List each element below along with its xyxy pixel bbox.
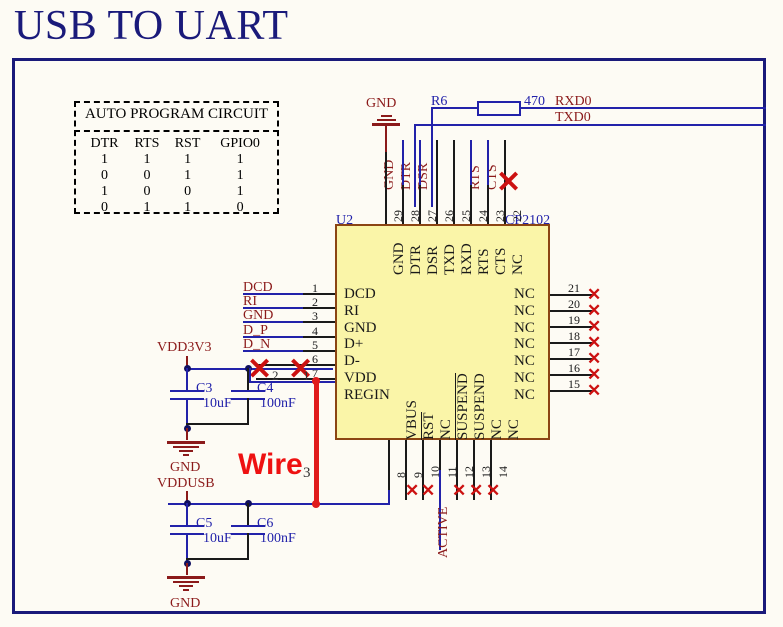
- chip-pin-label-gnd: GND: [391, 243, 408, 276]
- wire-gnd-top-stem: [385, 125, 387, 152]
- table-header-row: DTR RTS RST GPIO0: [82, 136, 272, 152]
- chip-pin-label-nc-17: NC: [514, 353, 535, 370]
- no-connect-x-pin14: ✕: [486, 482, 500, 499]
- wire-pin25-up: [431, 107, 433, 207]
- wire-cts: [487, 140, 489, 185]
- wire-annotation-label: Wire: [238, 450, 303, 480]
- chip-pin-label-dplus: D+: [344, 336, 363, 353]
- column-header-rst: RST: [167, 136, 208, 152]
- wire-r6-left: [431, 107, 479, 109]
- auto-program-divider: [74, 130, 279, 132]
- pin-lead-29: [385, 152, 387, 224]
- pin-number-23: 23: [493, 210, 508, 222]
- chip-pin-label-nc-13: NC: [489, 419, 506, 440]
- wire-gnd-left: [243, 321, 303, 323]
- table-row: 1 0 0 1: [82, 184, 272, 200]
- cell: 1: [167, 152, 208, 168]
- pin-number-27: 27: [425, 210, 440, 222]
- pin-number-24: 24: [476, 210, 491, 222]
- wire-pin26-up: [414, 124, 416, 207]
- pin-number-29: 29: [391, 210, 406, 222]
- wire-c5-c6-bottom-tie: [186, 558, 249, 560]
- cell: 0: [82, 168, 127, 184]
- chip-pin-label-suspend: SUSPEND: [472, 373, 489, 440]
- chip-pin-label-ri: RI: [344, 303, 359, 320]
- chip-designator: U2: [336, 213, 353, 229]
- wire-vbus-down: [388, 490, 390, 504]
- pin-number-18: 18: [568, 329, 580, 344]
- cell: 0: [208, 200, 272, 216]
- component-ref-c6: C6: [257, 516, 273, 532]
- junction-red-top: [312, 377, 320, 385]
- pin-number-8: 8: [394, 472, 409, 478]
- no-connect-x-pin15: ✕: [587, 382, 601, 399]
- chip-pin-label-nc-21: NC: [514, 286, 535, 303]
- chip-pin-label-dminus: D-: [344, 353, 360, 370]
- pin-number-20: 20: [568, 297, 580, 312]
- pin-number-25: 25: [459, 210, 474, 222]
- no-connect-x-pin9: ✕: [405, 482, 419, 499]
- chip-pin-label-rxd: RXD: [459, 243, 476, 275]
- cell: 1: [208, 168, 272, 184]
- pin-number-17: 17: [568, 345, 580, 360]
- component-ref-c3: C3: [196, 381, 212, 397]
- cell: 0: [127, 168, 167, 184]
- chip-pin-label-rst: RST: [421, 412, 438, 440]
- pin-number-28: 28: [408, 210, 423, 222]
- chip-pin-label-vdd: VDD: [344, 370, 377, 387]
- wire-annotation-index: 3: [303, 465, 311, 482]
- chip-pin-label-nc-16: NC: [514, 370, 535, 387]
- pin-number-9: 9: [411, 472, 426, 478]
- auto-program-title: AUTO PROGRAM CIRCUIT: [74, 106, 279, 123]
- column-header-gpio0: GPIO0: [208, 136, 272, 152]
- chip-pin-label-nc-19: NC: [514, 320, 535, 337]
- wire-regin-drop: [249, 368, 251, 382]
- chip-pin-label-nc-10: NC: [438, 419, 455, 440]
- cell: 1: [208, 184, 272, 200]
- wire-dcd: [243, 293, 303, 295]
- chip-pin-label-nc-18: NC: [514, 336, 535, 353]
- chip-pin-label-txd: TXD: [442, 244, 459, 275]
- pin-number-21: 21: [568, 281, 580, 296]
- column-header-dtr: DTR: [82, 136, 127, 152]
- wire-c6-top: [247, 503, 249, 525]
- pin-number-1: 1: [312, 281, 318, 296]
- auto-program-truth-table: DTR RTS RST GPIO0 1 1 1 1 0 0 1 1 1 0 0 …: [82, 136, 272, 216]
- net-label-gnd-bottom: GND: [170, 596, 200, 612]
- chip-pin-label-nc-22: NC: [510, 254, 527, 275]
- net-label-vdd3v3: VDD3V3: [157, 340, 211, 356]
- wire-dsr: [419, 140, 421, 185]
- no-connect-x-pin22: ✕: [496, 168, 521, 198]
- chip-pin-label-nc-14: NC: [506, 419, 523, 440]
- pin-number-22: 22: [510, 210, 525, 222]
- pin-number-16: 16: [568, 361, 580, 376]
- chip-pin-label-dtr: DTR: [408, 245, 425, 275]
- chip-pin-label-rts: RTS: [476, 248, 493, 275]
- cell: 1: [127, 152, 167, 168]
- wire-txd0-bus: [414, 124, 766, 126]
- pin-number-15: 15: [568, 377, 580, 392]
- component-ref-c5: C5: [196, 516, 212, 532]
- pin-number-13: 13: [479, 466, 494, 478]
- page-title: USB TO UART: [14, 0, 288, 52]
- net-label-vddusb: VDDUSB: [157, 476, 215, 492]
- cell: 1: [127, 200, 167, 216]
- chip-pin-label-dcd: DCD: [344, 286, 376, 303]
- component-value-c3: 10uF: [203, 396, 232, 412]
- pin-number-12: 12: [462, 466, 477, 478]
- pin-number-19: 19: [568, 313, 580, 328]
- no-connect-x-pin12: ✕: [452, 482, 466, 499]
- table-row: 0 1 1 0: [82, 200, 272, 216]
- chip-pin-label-nc-20: NC: [514, 303, 535, 320]
- cell: 1: [82, 184, 127, 200]
- component-value-c5: 10uF: [203, 531, 232, 547]
- wire-c3-top: [186, 368, 188, 390]
- cell: 0: [167, 184, 208, 200]
- cell: 1: [208, 152, 272, 168]
- pin-number-4: 4: [312, 324, 318, 339]
- chip-pin-label-gnd: GND: [344, 320, 377, 337]
- component-value-c6: 100nF: [260, 531, 296, 547]
- schematic-canvas: USB TO UART AUTO PROGRAM CIRCUIT DTR RTS…: [0, 0, 783, 627]
- cell: 0: [82, 200, 127, 216]
- pin-number-5: 5: [312, 338, 318, 353]
- chip-pin-label-dsr: DSR: [425, 246, 442, 275]
- pin-number-3: 3: [312, 309, 318, 324]
- wire-annotation-red-link: [314, 381, 319, 504]
- wire-c3-c4-bottom-tie: [186, 423, 249, 425]
- cell: 0: [127, 184, 167, 200]
- table-row: 0 0 1 1: [82, 168, 272, 184]
- wire-rxd0-bus: [519, 107, 766, 109]
- wire-regin-feed: [249, 381, 335, 383]
- chip-pin-label-vbus: VBUS: [404, 400, 421, 440]
- junction-red-bottom: [312, 500, 320, 508]
- net-label-gnd-mid: GND: [170, 460, 200, 476]
- wire-rts: [470, 140, 472, 185]
- wire-ri: [243, 307, 303, 309]
- wire-dtr: [402, 140, 404, 185]
- wire-dp: [243, 336, 303, 338]
- wire-c6-bottom: [247, 533, 249, 559]
- column-header-rts: RTS: [127, 136, 167, 152]
- ground-symbol-bottom: [167, 574, 205, 591]
- wire-c5-top: [186, 503, 188, 525]
- net-label-gnd-top: GND: [366, 96, 396, 112]
- wire-c4-bottom: [247, 398, 249, 424]
- no-connect-x-pin10: ✕: [421, 482, 435, 499]
- pin-number-26: 26: [442, 210, 457, 222]
- cell: 1: [82, 152, 127, 168]
- chip-pin-label-nc-15: NC: [514, 387, 535, 404]
- pin-number-14: 14: [496, 466, 511, 478]
- component-value-c4: 100nF: [260, 396, 296, 412]
- table-row: 1 1 1 1: [82, 152, 272, 168]
- ground-symbol-mid: [167, 439, 205, 456]
- chip-pin-label-suspend-n: SUSPEND: [455, 373, 472, 440]
- no-connect-x-pin13: ✕: [469, 482, 483, 499]
- chip-pin-label-cts: CTS: [493, 247, 510, 275]
- cell: 1: [167, 200, 208, 216]
- chip-pin-label-regin: REGIN: [344, 387, 390, 404]
- wire-vddusb-rail: [168, 503, 390, 505]
- net-label-active: ACTIVE: [436, 507, 452, 558]
- pin-number-11: 11: [445, 466, 460, 478]
- cell: 1: [167, 168, 208, 184]
- resistor-r6-body: [477, 101, 521, 116]
- wire-dn: [243, 350, 303, 352]
- pin-number-2: 2: [312, 295, 318, 310]
